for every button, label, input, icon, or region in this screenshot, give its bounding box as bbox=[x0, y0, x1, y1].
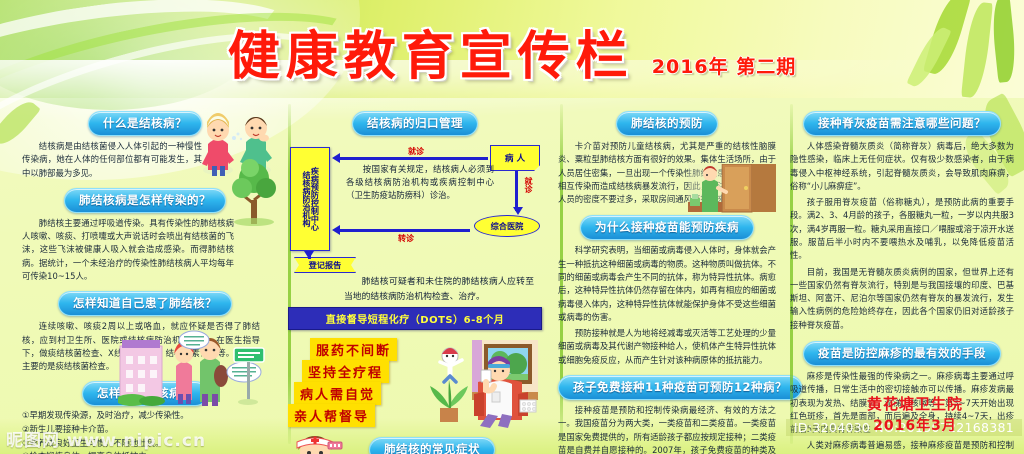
symptoms-panel: 肺结核的常见症状 食欲不振 bbox=[288, 432, 542, 454]
poster-header: 健康教育宣传栏 2016年 第二期 bbox=[0, 22, 1024, 92]
flow-desc-1: 按国家有关规定，结核病人必须到各级结核病防治机构或疾病控制中心（卫生防疫站防痨科… bbox=[346, 163, 494, 202]
poster-canvas: 健康教育宣传栏 2016年 第二期 什么是结核病？ 结核病是由结核菌侵入人体引起… bbox=[0, 0, 1024, 454]
slogan-1: 服药不间断 bbox=[310, 338, 397, 361]
section-heading-tb-referral-management: 结核病的归口管理 bbox=[352, 111, 478, 136]
section-body-why-vaccines-work-1: 科学研究表明，当细菌或病毒侵入人体时，身体就会产生一种抵抗这种细菌或病毒的物质。… bbox=[558, 244, 776, 324]
section-body-transmission: 肺结核主要通过呼吸道传染。具有传染性的肺结核病人咳嗽、咳痰、打喷嚏或大声说话时会… bbox=[22, 217, 234, 283]
flow-node-tb-institute-label: 结核病防治机构 bbox=[302, 171, 310, 227]
flow-node-patient: 病 人 bbox=[490, 145, 540, 171]
flow-edge-label-visit-top: 就诊 bbox=[408, 146, 424, 157]
slogan-3: 病人需自觉 bbox=[294, 382, 381, 405]
flow-node-register-report: 登记报告 bbox=[294, 257, 356, 273]
flow-edge-label-transfer: 转诊 bbox=[398, 233, 414, 244]
column-2: 结核病的归口管理 结核病防治机构 疾病预防控制中心 病 人 综合医院 登记报告 bbox=[280, 100, 550, 454]
issuer-stamp: 黄花塘卫生院 2016年3月 bbox=[840, 393, 990, 435]
issuer-date: 2016年3月 bbox=[840, 415, 990, 435]
column-1: 什么是结核病？ 结核病是由结核菌侵入人体引起的一种慢性传染病，她在人体的任何部位… bbox=[0, 100, 280, 454]
illustration-patient-taking-medicine bbox=[426, 336, 542, 428]
flow-node-tb-institute: 结核病防治机构 疾病预防控制中心 bbox=[290, 147, 330, 251]
section-body-polio-3: 目前，我国是无脊髓灰质炎病例的国家，但世界上还有一些国家仍然有脊灰流行，特别是与… bbox=[790, 266, 1014, 332]
section-body-measles-2: 人类对麻疹病毒普遍易感，接种麻疹疫苗是预防和控制麻疹最有效手段。在实施麻疹疫苗接… bbox=[790, 439, 1014, 454]
flowchart-tb-referral: 结核病防治机构 疾病预防控制中心 病 人 综合医院 登记报告 就诊 bbox=[288, 141, 542, 273]
flow-node-general-hospital: 综合医院 bbox=[474, 215, 540, 237]
section-body-free-vaccines-1: 接种疫苗是预防和控制传染病最经济、有效的方法之一。我国疫苗分为两大类，一类疫苗和… bbox=[558, 404, 776, 454]
section-heading-how-to-know: 怎样知道自己患了肺结核？ bbox=[58, 291, 232, 316]
flow-arrowhead-top bbox=[332, 153, 340, 163]
page-title: 健康教育宣传栏 bbox=[228, 31, 634, 83]
flow-arrow-right bbox=[515, 171, 518, 211]
section-heading-common-symptoms: 肺结核的常见症状 bbox=[369, 437, 495, 454]
section-body-what-is-tb: 结核病是由结核菌侵入人体引起的一种慢性传染病，她在人体的任何部位都有可能发生，其… bbox=[22, 140, 202, 180]
section-heading-measles-vaccine: 疫苗是防控麻疹的最有效的手段 bbox=[803, 341, 1001, 366]
flow-arrowhead-bottom bbox=[332, 225, 340, 235]
illustration-person-at-door bbox=[688, 164, 776, 220]
flow-node-register-report-label: 登记报告 bbox=[309, 259, 342, 271]
flow-node-general-hospital-label: 综合医院 bbox=[491, 220, 524, 232]
flow-arrowhead-register bbox=[304, 251, 314, 259]
flow-arrow-bottom bbox=[340, 229, 470, 232]
section-body-why-vaccines-work-2: 预防接种就是人为地将经减毒或灭活等工艺处理的少量细菌或病毒及其代谢产物接种给人，… bbox=[558, 327, 776, 367]
section-heading-transmission: 肺结核病是怎样传染的？ bbox=[64, 188, 226, 213]
issue-label: 2016年 第二期 bbox=[652, 36, 797, 79]
illustration-tree bbox=[230, 156, 278, 226]
flow-node-patient-label: 病 人 bbox=[505, 152, 525, 164]
list-item: ①早期发现传染源，及时治疗，减少传染性。 bbox=[22, 409, 242, 423]
column-3: 肺结核的预防 卡介苗对预防儿童结核病，尤其是严重的结核性脑膜炎、粟粒型肺结核方面… bbox=[550, 100, 782, 454]
slogan-4: 亲人帮督导 bbox=[288, 404, 375, 427]
section-heading-what-is-tb: 什么是结核病？ bbox=[88, 111, 202, 136]
dots-treatment-banner: 直接督导短程化疗（DOTS）6-8个月 bbox=[288, 307, 542, 330]
flow-desc-2: 肺结核可疑者和未住院的肺结核病人应转至当地的结核病防治机构检查、治疗。 bbox=[344, 275, 534, 304]
slogan-2: 坚持全疗程 bbox=[302, 360, 389, 383]
flow-arrow-top bbox=[340, 157, 488, 160]
issuer-name: 黄花塘卫生院 bbox=[840, 393, 990, 414]
nipic-watermark: 昵图网 www.nipic.cn bbox=[6, 426, 276, 452]
section-heading-tb-prevention: 肺结核的预防 bbox=[616, 111, 718, 136]
slogan-group: 服药不间断 坚持全疗程 病人需自觉 亲人帮督导 bbox=[288, 336, 542, 428]
flow-edge-label-visit-right: 就诊 bbox=[524, 177, 532, 193]
illustration-nurse bbox=[284, 434, 346, 454]
section-heading-free-vaccines: 孩子免费接种11种疫苗可预防12种病？ bbox=[558, 375, 802, 400]
section-body-polio-1: 人体感染脊髓灰质炎（简称脊灰）病毒后，绝大多数为隐性感染，临床上无任何症状。仅有… bbox=[790, 140, 1014, 193]
flow-arrowhead-right bbox=[513, 207, 523, 215]
section-body-polio-2: 孩子服用脊灰疫苗（俗称糖丸），是预防此病的重要手段。满2、3、4月龄的孩子，各服… bbox=[790, 196, 1014, 262]
section-heading-polio-vaccine: 接种脊灰疫苗需注意哪些问题？ bbox=[803, 111, 1001, 136]
illustration-street-scene bbox=[118, 320, 268, 406]
flow-node-cdc-label: 疾病预防控制中心 bbox=[310, 167, 318, 231]
